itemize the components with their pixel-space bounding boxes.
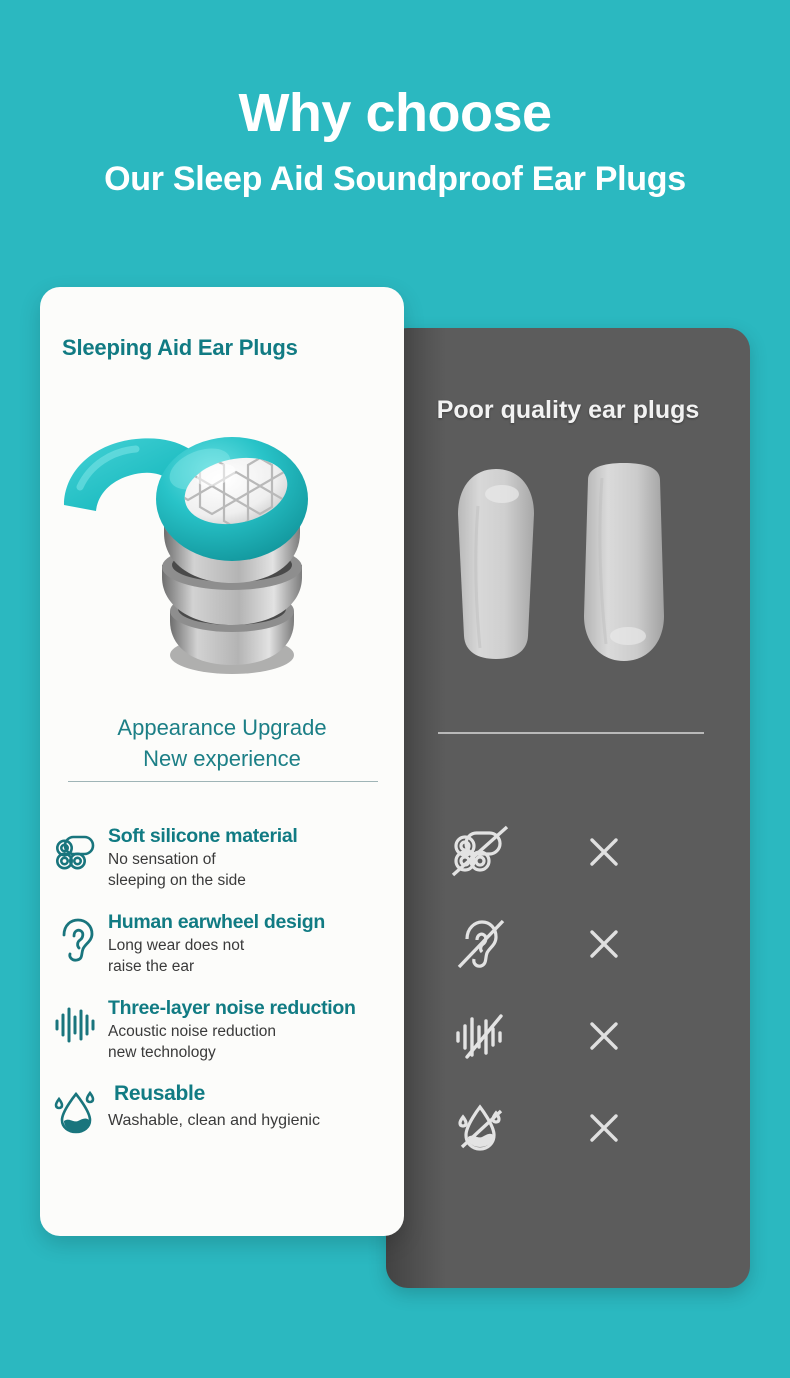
feature-desc-line-2: raise the ear — [108, 955, 390, 976]
water-drop-crossed-icon — [386, 1099, 536, 1157]
silicone-tubes-icon — [52, 824, 106, 881]
ear-crossed-icon — [386, 915, 536, 973]
page-title-sub: Our Sleep Aid Soundproof Ear Plugs — [0, 140, 790, 196]
poor-row-silicone — [386, 806, 750, 898]
caption-line-2: New experience — [40, 743, 404, 774]
feature-text: Soft silicone material No sensation of s… — [106, 824, 390, 890]
feature-desc-line-1: Long wear does not — [108, 934, 390, 955]
page-header: Why choose Our Sleep Aid Soundproof Ear … — [0, 0, 790, 196]
feature-heading: Soft silicone material — [108, 824, 390, 848]
product-caption: Appearance Upgrade New experience — [40, 712, 404, 774]
feature-item-noise-reduction: Three-layer noise reduction Acoustic noi… — [40, 996, 404, 1062]
sound-wave-crossed-icon — [386, 1007, 536, 1065]
foam-plug-right — [572, 460, 676, 664]
feature-text: Reusable Washable, clean and hygienic — [106, 1082, 390, 1130]
water-drop-icon — [52, 1082, 106, 1139]
silicone-tubes-crossed-icon — [386, 823, 536, 881]
feature-item-reusable: Reusable Washable, clean and hygienic — [40, 1082, 404, 1139]
poor-quality-title: Poor quality ear plugs — [386, 396, 750, 425]
ear-icon — [52, 910, 106, 967]
feature-heading: Human earwheel design — [108, 910, 390, 934]
foam-plug-left — [448, 466, 544, 662]
x-mark-reusable — [536, 1111, 646, 1145]
poor-row-ear — [386, 898, 750, 990]
feature-item-soft-silicone: Soft silicone material No sensation of s… — [40, 824, 404, 890]
sound-wave-icon — [52, 996, 106, 1053]
caption-line-1: Appearance Upgrade — [40, 712, 404, 743]
x-mark-ear — [536, 927, 646, 961]
poor-row-noise — [386, 990, 750, 1082]
feature-desc-line-2: sleeping on the side — [108, 869, 390, 890]
x-mark-noise — [536, 1019, 646, 1053]
feature-heading: Reusable — [108, 1082, 390, 1106]
feature-desc-line-1: No sensation of — [108, 848, 390, 869]
feature-text: Human earwheel design Long wear does not… — [106, 910, 390, 976]
poor-quality-rows — [386, 806, 750, 1174]
poor-quality-product-image — [426, 458, 716, 673]
card-title: Sleeping Aid Ear Plugs — [62, 335, 298, 361]
feature-heading: Three-layer noise reduction — [108, 996, 390, 1020]
feature-desc-line-2: new technology — [108, 1041, 390, 1062]
product-image — [50, 425, 394, 685]
poor-row-reusable — [386, 1082, 750, 1174]
x-mark-silicone — [536, 835, 646, 869]
feature-desc-line-1: Washable, clean and hygienic — [108, 1106, 390, 1130]
feature-text: Three-layer noise reduction Acoustic noi… — [106, 996, 390, 1062]
feature-list: Soft silicone material No sensation of s… — [40, 824, 404, 1159]
poor-quality-panel: Poor quality ear plugs — [386, 328, 750, 1288]
caption-divider — [68, 781, 378, 782]
feature-item-earwheel: Human earwheel design Long wear does not… — [40, 910, 404, 976]
feature-desc-line-1: Acoustic noise reduction — [108, 1020, 390, 1041]
sleeping-aid-card: Sleeping Aid Ear Plugs — [40, 287, 404, 1236]
panel-divider — [438, 732, 704, 734]
page-title-main: Why choose — [0, 0, 790, 140]
